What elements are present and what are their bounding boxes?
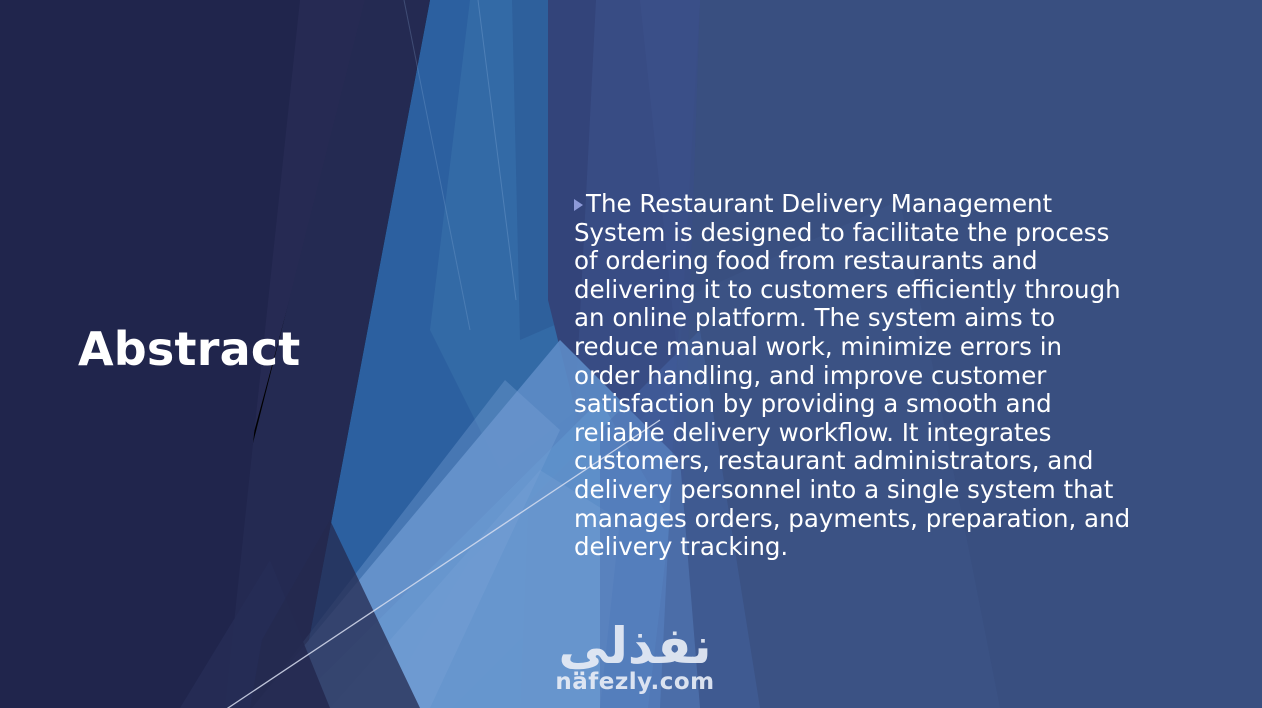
presentation-slide: Abstract The Restaurant Delivery Managem… bbox=[0, 0, 1262, 708]
body-text-block: The Restaurant Delivery Management Syste… bbox=[574, 190, 1134, 562]
abstract-paragraph: The Restaurant Delivery Management Syste… bbox=[574, 190, 1134, 562]
abstract-paragraph-text: The Restaurant Delivery Management Syste… bbox=[574, 189, 1130, 561]
slide-content-layer: Abstract The Restaurant Delivery Managem… bbox=[0, 0, 1262, 708]
watermark-arabic-logo: نفذلي bbox=[540, 620, 730, 672]
watermark-domain-text: nafezly.com bbox=[540, 669, 730, 695]
page-title: Abstract bbox=[78, 322, 300, 376]
triangle-right-bullet-icon bbox=[574, 199, 583, 211]
nafezly-watermark: نفذلي nafezly.com bbox=[540, 620, 730, 695]
